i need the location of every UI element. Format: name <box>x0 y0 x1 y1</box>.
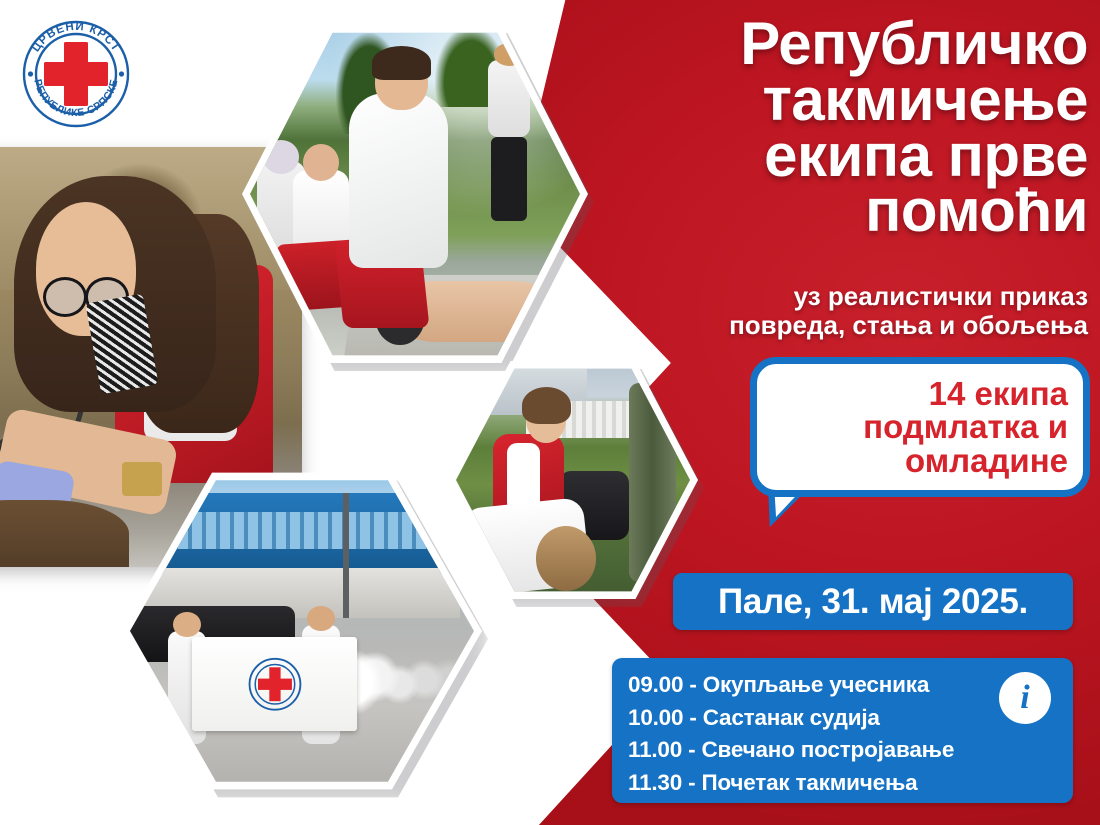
bubble-label: 14 екипа подмлатка и омладине <box>750 357 1090 497</box>
poster-canvas: ЦРВЕНИ КРСТ РЕПУБЛИКЕ СРПСКЕ <box>0 0 1100 825</box>
schedule-panel: 09.00 - Окупљање учесника 10.00 - Састан… <box>612 658 1073 803</box>
schedule-item-2: 10.00 - Састанак судија <box>628 702 958 735</box>
red-cross-logo: ЦРВЕНИ КРСТ РЕПУБЛИКЕ СРПСКЕ <box>14 12 138 136</box>
info-icon: i <box>999 672 1051 724</box>
date-location-banner: Пале, 31. мај 2025. <box>673 573 1073 630</box>
schedule-list: 09.00 - Окупљање учесника 10.00 - Састан… <box>628 669 958 800</box>
teams-callout-bubble: 14 екипа подмлатка и омладине <box>750 357 1090 532</box>
schedule-item-1: 09.00 - Окупљање учесника <box>628 669 958 702</box>
schedule-item-4: 11.30 - Почетак такмичења <box>628 767 958 800</box>
page-title: Републичко такмичење екипа прве помоћи <box>618 16 1088 239</box>
page-subtitle: уз реалистички приказ повреда, стања и о… <box>618 282 1088 339</box>
schedule-item-3: 11.00 - Свечано постројавање <box>628 734 958 767</box>
